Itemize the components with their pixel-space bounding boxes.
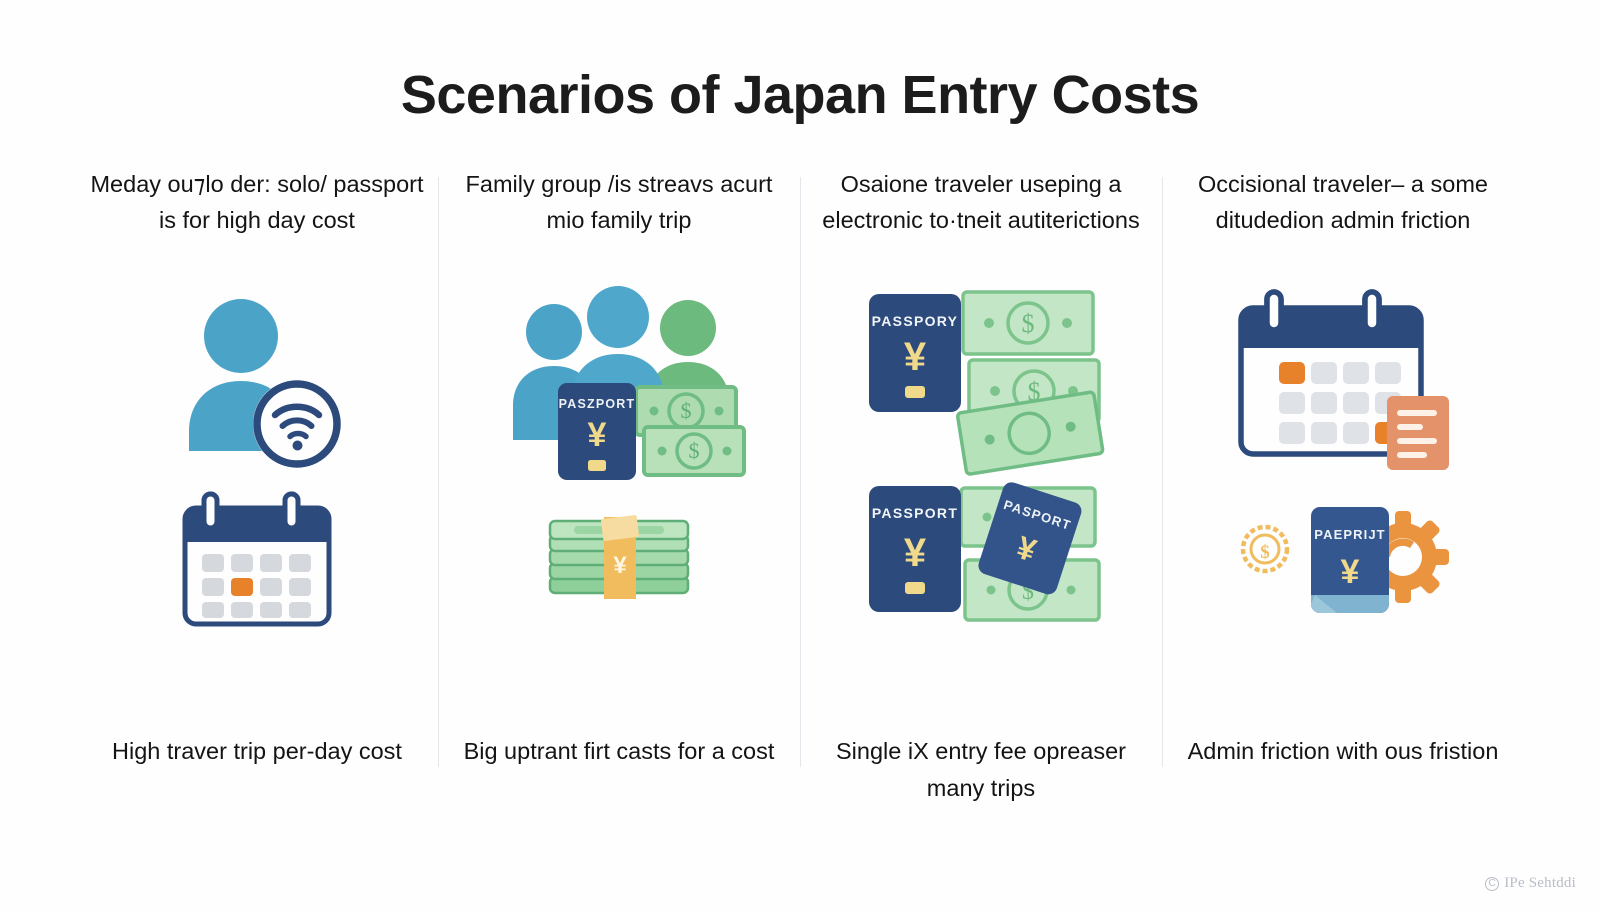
scenario-artwork bbox=[90, 279, 424, 727]
yen-symbol: ¥ bbox=[904, 531, 927, 575]
scenario-caption: Big uptrant firt casts for a cost bbox=[452, 727, 786, 807]
person-wifi-icon bbox=[159, 284, 355, 480]
scenario-artwork: $ $ PASZPORT bbox=[452, 279, 786, 727]
svg-text:$: $ bbox=[681, 398, 692, 423]
watermark-text: IPe Sehtddi bbox=[1504, 875, 1576, 892]
infographic-root: Scenarios of Japan Entry Costs Meday ou⁊… bbox=[0, 0, 1600, 914]
yen-symbol: ¥ bbox=[1341, 553, 1360, 591]
passports-banknotes-icon: $ $ bbox=[861, 282, 1101, 482]
dollar-symbol: $ bbox=[1260, 542, 1270, 563]
scenario-artwork: $ $ bbox=[814, 279, 1148, 727]
coin-passport-gear-icon: $ bbox=[1225, 499, 1461, 619]
passport-label: PASZPORT bbox=[559, 397, 636, 411]
scenario-artwork: $ bbox=[1176, 279, 1510, 727]
scenario-column-2: Family group /is streavs acurt mio famil… bbox=[438, 167, 800, 807]
passport-label: PAEPRIJT bbox=[1314, 527, 1385, 542]
passport-label: PASSPORT bbox=[872, 505, 958, 521]
scenario-heading: Osaione traveler useping a electronic to… bbox=[814, 167, 1148, 279]
scenario-caption: Admin friction with ous fristion bbox=[1176, 727, 1510, 807]
calendar-icon bbox=[177, 488, 337, 630]
yen-symbol: ¥ bbox=[613, 552, 627, 579]
passport-tilted-icon: $ PASSPORT ¥ PASPORT ¥ bbox=[861, 484, 1101, 634]
scenario-caption: High traver trip per-day cost bbox=[90, 727, 424, 807]
scenario-column-4: Occisional traveler– a some ditudedion a… bbox=[1162, 167, 1524, 807]
calendar-document-icon bbox=[1225, 284, 1461, 480]
coin-icon: $ bbox=[1243, 527, 1287, 571]
page-title: Scenarios of Japan Entry Costs bbox=[0, 66, 1600, 125]
yen-symbol: ¥ bbox=[904, 335, 927, 379]
copyright-icon: C bbox=[1485, 877, 1499, 891]
scenario-column-3: Osaione traveler useping a electronic to… bbox=[800, 167, 1162, 807]
scenario-heading: Family group /is streavs acurt mio famil… bbox=[452, 167, 786, 279]
svg-text:$: $ bbox=[1022, 309, 1035, 338]
svg-text:$: $ bbox=[689, 438, 700, 463]
scenario-column-1: Meday ou⁊lo der: solo/ passport is for h… bbox=[76, 167, 438, 807]
watermark: C IPe Sehtddi bbox=[1485, 875, 1576, 892]
cash-stack-yen-icon: ¥ bbox=[534, 499, 704, 619]
family-group-passport-money-icon: $ $ PASZPORT bbox=[500, 284, 738, 480]
scenario-caption: Single iX entry fee opreaser many trips bbox=[814, 727, 1148, 807]
scenario-heading: Meday ou⁊lo der: solo/ passport is for h… bbox=[90, 167, 424, 279]
yen-symbol: ¥ bbox=[588, 416, 607, 454]
scenario-heading: Occisional traveler– a some ditudedion a… bbox=[1176, 167, 1510, 279]
scenario-columns: Meday ou⁊lo der: solo/ passport is for h… bbox=[0, 167, 1600, 807]
passport-label: PASSPORY bbox=[872, 313, 959, 329]
